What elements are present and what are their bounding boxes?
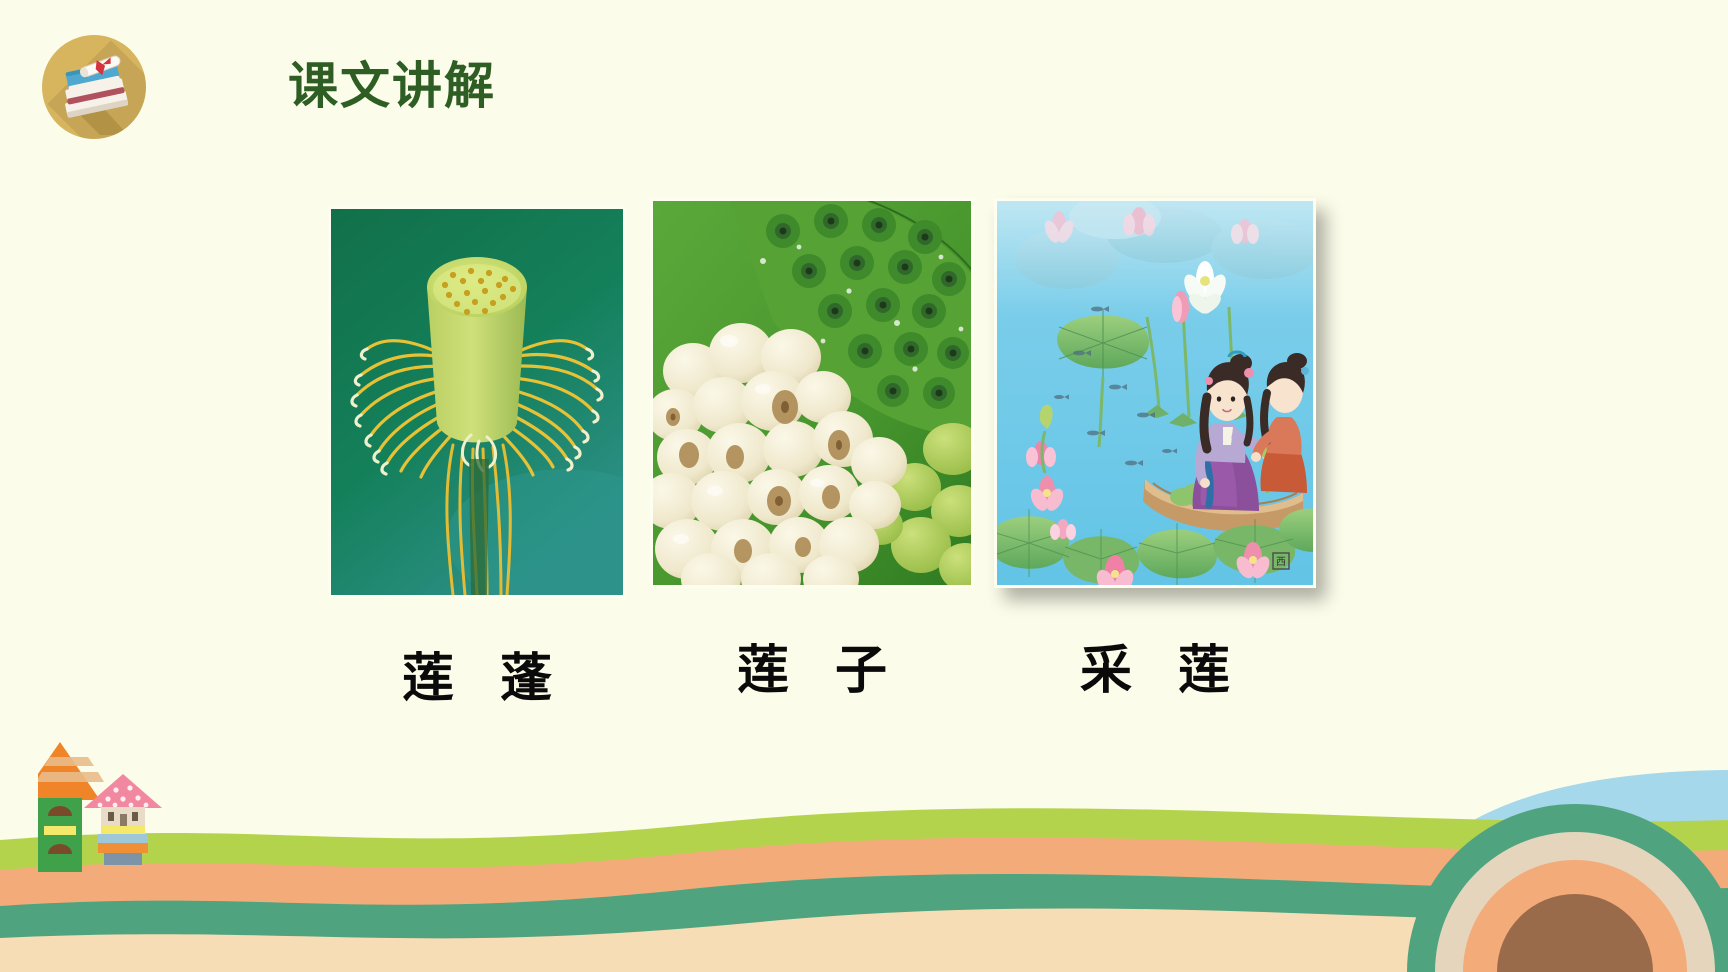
image-gallery: 莲 蓬 [0,190,1728,710]
slide-header: 课文讲解 [0,0,1728,160]
pink-roof-house [84,774,162,865]
caption-cailian: 采 莲 [994,628,1316,703]
lotus-seedpod-photo [328,206,626,598]
lotus-seeds-photo [650,198,974,588]
books-glyph [42,35,146,139]
slide-canvas: 课文讲解 [0,0,1728,972]
svg-text:西: 西 [1276,557,1286,568]
gallery-item-lianpeng[interactable]: 莲 蓬 [328,206,626,598]
caption-lianpeng: 莲 蓬 [328,636,626,711]
gallery-item-lianzi[interactable]: 莲 子 [650,198,974,588]
stacked-books-icon [42,35,146,139]
house-decoration-group [38,742,198,872]
caption-lianzi: 莲 子 [650,628,974,703]
lotus-picking-painting: 西 [994,198,1316,588]
page-title: 课文讲解 [288,46,496,118]
gallery-item-cailian[interactable]: 西 采 莲 [994,198,1316,588]
bottom-decoration [0,712,1728,972]
